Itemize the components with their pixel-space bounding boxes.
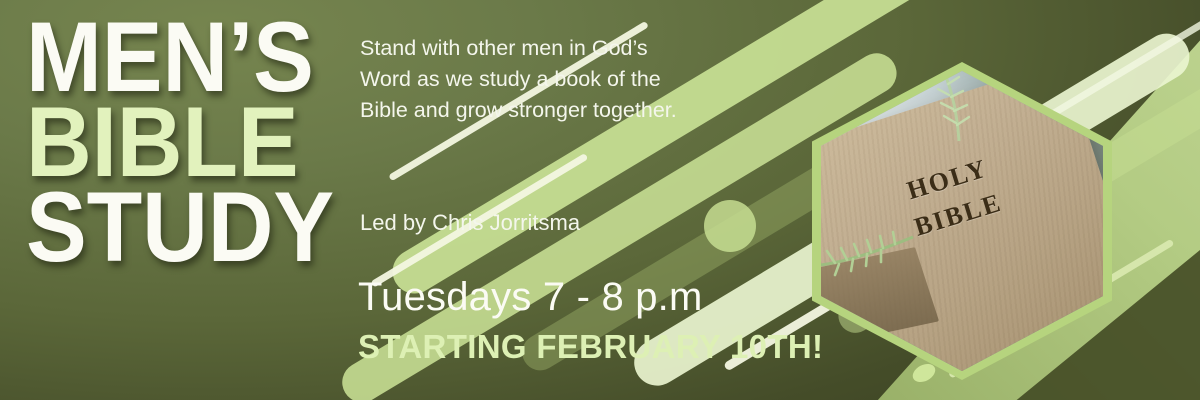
- schedule-text: Tuesdays 7 - 8 p.m: [358, 275, 702, 320]
- page-title: MEN’S BIBLE STUDY: [26, 14, 346, 269]
- headline-line-3: STUDY: [26, 184, 320, 269]
- event-banner: HOLY BIBLE: [0, 0, 1200, 400]
- leader-text: Led by Chris Jorritsma: [360, 210, 720, 236]
- description-text: Stand with other men in God’s Word as we…: [360, 33, 690, 127]
- start-date-text: STARTING FEBRUARY 10TH!: [358, 328, 823, 366]
- bible-photo-hexagon: HOLY BIBLE: [812, 62, 1112, 380]
